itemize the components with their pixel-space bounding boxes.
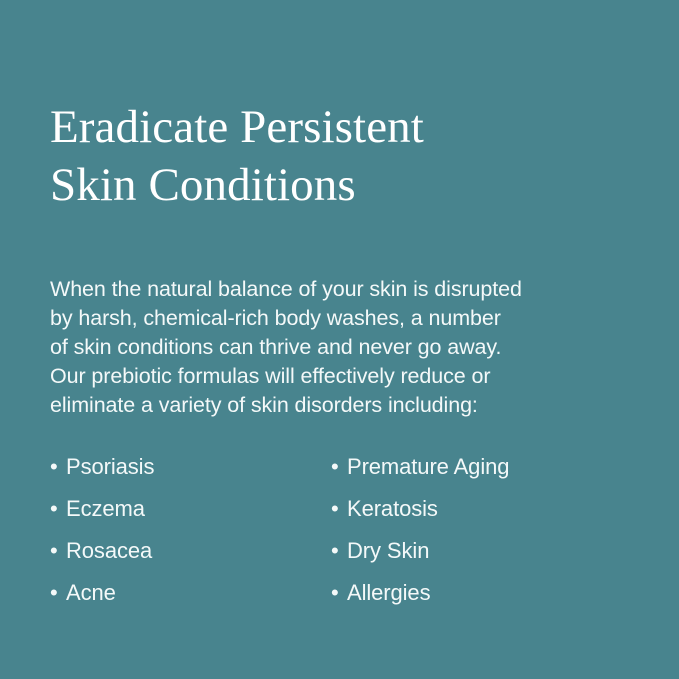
body-paragraph: When the natural balance of your skin is… <box>50 275 620 420</box>
list-item-label: Eczema <box>66 494 145 524</box>
list-item: • Premature Aging <box>331 452 630 494</box>
list-item: • Dry Skin <box>331 536 630 578</box>
list-item-label: Dry Skin <box>347 536 429 566</box>
list-item: • Allergies <box>331 578 630 620</box>
list-item-label: Keratosis <box>347 494 438 524</box>
bullet-icon: • <box>50 452 66 482</box>
list-item-label: Rosacea <box>66 536 152 566</box>
body-paragraph-line-2: by harsh, chemical-rich body washes, a n… <box>50 304 620 333</box>
list-item-label: Premature Aging <box>347 452 509 482</box>
bullet-icon: • <box>331 452 347 482</box>
body-paragraph-line-1: When the natural balance of your skin is… <box>50 275 620 304</box>
bullet-icon: • <box>50 536 66 566</box>
conditions-list: • Psoriasis • Eczema • Rosacea • Acne • … <box>50 452 630 620</box>
body-paragraph-line-3: of skin conditions can thrive and never … <box>50 333 620 362</box>
page-title-line-2: Skin Conditions <box>50 156 630 214</box>
bullet-icon: • <box>331 536 347 566</box>
bullet-icon: • <box>50 578 66 608</box>
body-paragraph-line-4: Our prebiotic formulas will effectively … <box>50 362 620 391</box>
conditions-column-right: • Premature Aging • Keratosis • Dry Skin… <box>331 452 630 620</box>
list-item-label: Psoriasis <box>66 452 154 482</box>
promo-card: Eradicate Persistent Skin Conditions Whe… <box>0 0 679 679</box>
body-paragraph-line-5: eliminate a variety of skin disorders in… <box>50 391 620 420</box>
list-item-label: Allergies <box>347 578 430 608</box>
list-item-label: Acne <box>66 578 116 608</box>
list-item: • Eczema <box>50 494 331 536</box>
bullet-icon: • <box>50 494 66 524</box>
page-title: Eradicate Persistent Skin Conditions <box>50 98 630 214</box>
conditions-column-left: • Psoriasis • Eczema • Rosacea • Acne <box>50 452 331 620</box>
bullet-icon: • <box>331 578 347 608</box>
list-item: • Psoriasis <box>50 452 331 494</box>
page-title-line-1: Eradicate Persistent <box>50 98 630 156</box>
list-item: • Keratosis <box>331 494 630 536</box>
list-item: • Rosacea <box>50 536 331 578</box>
list-item: • Acne <box>50 578 331 620</box>
bullet-icon: • <box>331 494 347 524</box>
